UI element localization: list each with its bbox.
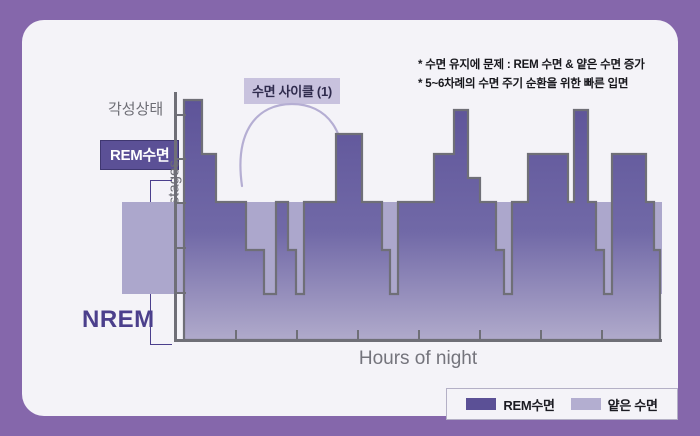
- annotation-note-1: * 수면 유지에 문제 : REM 수면 & 얕은 수면 증가: [418, 56, 645, 75]
- x-axis-line: [174, 339, 662, 342]
- chart-card: * 수면 유지에 문제 : REM 수면 & 얕은 수면 증가 * 5~6차례의…: [22, 20, 678, 416]
- page-frame: * 수면 유지에 문제 : REM 수면 & 얕은 수면 증가 * 5~6차례의…: [0, 0, 700, 436]
- annotation-notes: * 수면 유지에 문제 : REM 수면 & 얕은 수면 증가 * 5~6차례의…: [418, 56, 645, 93]
- hypnogram-trace: [176, 92, 662, 342]
- chart-legend: REM수면 얕은 수면: [446, 388, 678, 420]
- y-axis-tick: [177, 114, 186, 116]
- y-axis-tick: [177, 292, 186, 294]
- annotation-note-2: * 5~6차례의 수면 주기 순환을 위한 빠른 입면: [418, 75, 645, 94]
- x-axis-tick: [601, 330, 603, 339]
- y-axis-tick: [177, 202, 186, 204]
- y-axis-tick: [177, 158, 186, 160]
- y-axis-line: [174, 92, 177, 342]
- x-axis-tick: [479, 330, 481, 339]
- x-axis-tick: [296, 330, 298, 339]
- legend-swatch-light-sleep: [571, 398, 601, 410]
- x-axis-tick: [540, 330, 542, 339]
- legend-item-rem: REM수면: [466, 395, 554, 414]
- legend-swatch-rem: [466, 398, 496, 410]
- x-axis-tick: [357, 330, 359, 339]
- hypnogram-plot: [174, 92, 662, 342]
- x-axis-tick: [418, 330, 420, 339]
- y-axis-tick: [177, 247, 186, 249]
- nrem-label: NREM: [82, 306, 155, 334]
- x-axis-tick: [235, 330, 237, 339]
- legend-item-light-sleep: 얕은 수면: [571, 395, 658, 414]
- hypnogram-area: [184, 100, 660, 340]
- legend-label-rem: REM수면: [503, 395, 554, 414]
- legend-label-light-sleep: 얕은 수면: [608, 395, 658, 414]
- x-axis-title: Hours of night: [174, 348, 662, 370]
- awake-state-label: 각성상태: [108, 98, 163, 119]
